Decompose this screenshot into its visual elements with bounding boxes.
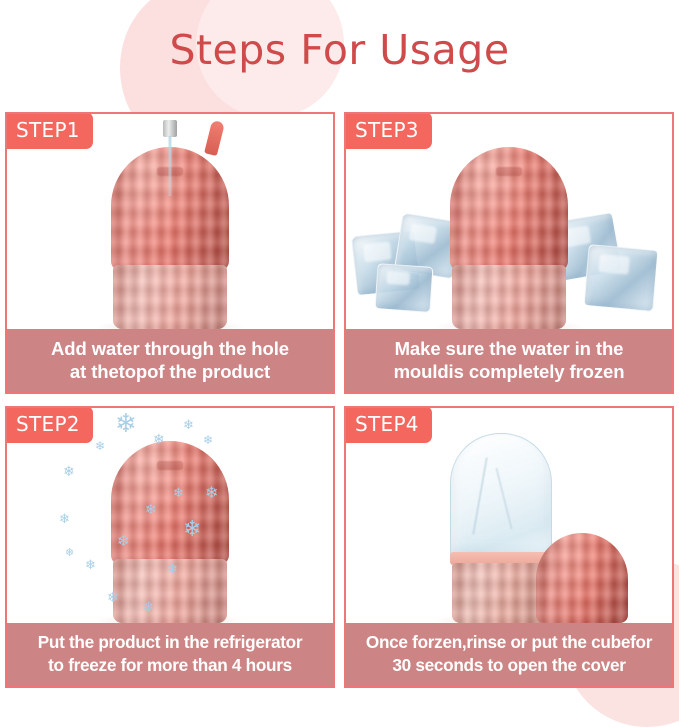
texture-pattern xyxy=(113,265,227,329)
snowflake-icon: ❄ xyxy=(203,434,213,446)
snowflake-icon: ❄ xyxy=(167,562,178,575)
snowflake-icon: ❄ xyxy=(205,486,218,502)
product-cover xyxy=(450,147,568,271)
snowflake-icon: ❄ xyxy=(143,600,154,613)
brand-emboss xyxy=(496,167,522,176)
step-caption-3: Make sure the water in the mouldis compl… xyxy=(346,329,672,392)
step-badge-1: STEP1 xyxy=(5,112,93,149)
ice-cube-icon xyxy=(374,263,433,313)
ice-cube-dome xyxy=(450,433,552,561)
water-nozzle-icon xyxy=(163,120,177,137)
snowflake-icon: ❄ xyxy=(153,432,165,446)
snowflake-icon: ❄ xyxy=(65,548,74,559)
step-caption-4: Once forzen,rinse or put the cubefor 30 … xyxy=(346,623,672,686)
removed-cover xyxy=(536,533,628,623)
ice-cube-icon xyxy=(583,244,658,312)
snowflake-icon: ❄ xyxy=(145,502,157,516)
texture-pattern xyxy=(536,533,628,623)
step-caption-2: Put the product in the refrigerator to f… xyxy=(7,623,333,686)
product-base xyxy=(452,265,566,329)
texture-pattern xyxy=(450,147,568,271)
step-badge-4: STEP4 xyxy=(344,406,432,443)
snowflake-icon: ❄ xyxy=(117,534,130,549)
lid-flap-icon xyxy=(204,120,225,156)
steps-grid: STEP1 Add water through the hole at thet… xyxy=(5,112,674,688)
texture-pattern xyxy=(452,265,566,329)
step-panel-2: STEP2 ❄ ❄ ❄ ❄ ❄ ❄ ❄ ❄ ❄ ❄ ❄ ❄ xyxy=(5,406,335,688)
snowflake-icon: ❄ xyxy=(183,418,194,431)
frozen-ice-assembly xyxy=(434,433,584,623)
snowflake-icon: ❄ xyxy=(63,464,75,478)
product-mould xyxy=(450,147,568,329)
snowflake-icon: ❄ xyxy=(107,590,119,604)
snowflake-icon: ❄ xyxy=(95,440,105,452)
brand-emboss xyxy=(157,461,183,470)
step-badge-2: STEP2 xyxy=(5,406,93,443)
snowflake-icon: ❄ xyxy=(173,486,184,499)
snowflake-icon: ❄ xyxy=(115,410,137,436)
product-base xyxy=(452,563,548,623)
snowflake-icon: ❄ xyxy=(59,512,70,525)
snowflake-icon: ❄ xyxy=(183,518,201,540)
snowflake-icon: ❄ xyxy=(85,558,96,571)
texture-pattern xyxy=(452,563,548,623)
water-stream-icon xyxy=(169,136,172,196)
step-panel-4: STEP4 Once forzen,rinse or put the cubef… xyxy=(344,406,674,688)
page-title: Steps For Usage xyxy=(0,22,679,78)
step-panel-1: STEP1 Add water through the hole at thet… xyxy=(5,112,335,394)
step-badge-3: STEP3 xyxy=(344,112,432,149)
product-base xyxy=(113,265,227,329)
step-caption-1: Add water through the hole at thetopof t… xyxy=(7,329,333,392)
step-panel-3: STEP3 Make sure the water in the mouldis… xyxy=(344,112,674,394)
product-mould xyxy=(111,441,229,623)
